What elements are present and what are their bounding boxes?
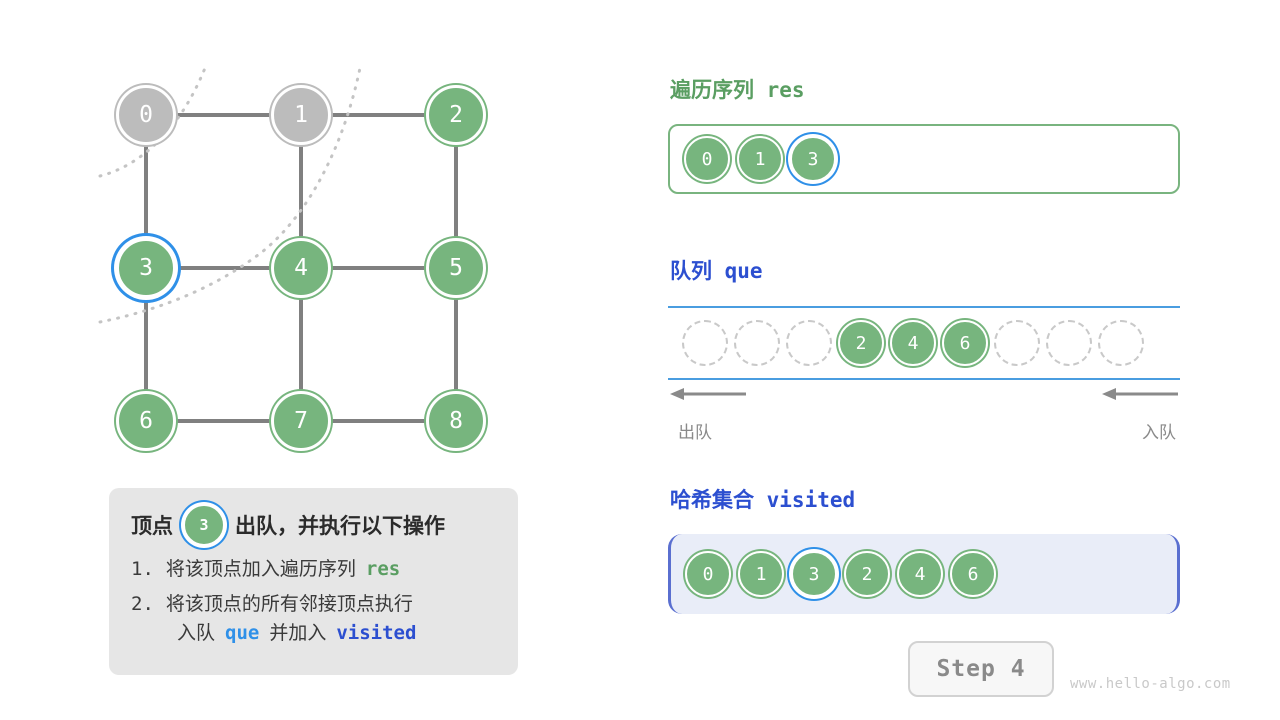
res-item-3: 3 — [790, 136, 836, 182]
caption-head-prefix: 顶点 — [131, 510, 173, 540]
graph-node-1[interactable]: 1 — [271, 85, 331, 145]
que-item-4: 4 — [890, 320, 936, 366]
caption-panel: 顶点 3 出队，并执行以下操作 1. 将该顶点加入遍历序列 res 2. 将该顶… — [109, 488, 518, 675]
step-badge: Step 4 — [908, 641, 1054, 697]
caption-sub-code-visited: visited — [336, 622, 416, 644]
graph-node-3[interactable]: 3 — [116, 238, 176, 298]
caption-step-1-text: 将该顶点加入遍历序列 — [166, 554, 356, 581]
graph-node-4[interactable]: 4 — [271, 238, 331, 298]
dequeue-arrow-icon — [668, 384, 748, 404]
que-section-title: 队列 que — [670, 255, 763, 285]
caption-sub-before: 入队 — [177, 618, 215, 645]
caption-step-1-code: res — [366, 558, 400, 580]
que-slots: 246 — [668, 306, 1180, 380]
caption-step-2: 2. 将该顶点的所有邻接顶点执行 — [131, 589, 498, 616]
enqueue-label: 入队 — [1142, 418, 1176, 443]
res-container: 013 — [668, 124, 1180, 194]
enqueue-arrow-icon — [1100, 384, 1180, 404]
caption-sub-code-que: que — [225, 622, 259, 644]
caption-step-2-number: 2. — [131, 593, 154, 615]
caption-vertex-chip: 3 — [183, 504, 225, 546]
caption-step-1-number: 1. — [131, 558, 154, 580]
watermark: www.hello-algo.com — [1070, 676, 1231, 692]
graph-node-2[interactable]: 2 — [426, 85, 486, 145]
caption-heading: 顶点 3 出队，并执行以下操作 — [131, 504, 498, 546]
visited-section-title: 哈希集合 visited — [670, 484, 855, 514]
caption-step-2-continued: 入队 que 并加入 visited — [131, 618, 498, 645]
que-slot-empty-1 — [734, 320, 780, 366]
graph-node-5[interactable]: 5 — [426, 238, 486, 298]
res-item-0: 0 — [684, 136, 730, 182]
visited-item-3: 3 — [791, 551, 837, 597]
visited-item-0: 0 — [685, 551, 731, 597]
graph-node-7[interactable]: 7 — [271, 391, 331, 451]
que-slot-empty-8 — [1098, 320, 1144, 366]
visited-item-1: 1 — [738, 551, 784, 597]
caption-step-1: 1. 将该顶点加入遍历序列 res — [131, 554, 498, 581]
res-item-1: 1 — [737, 136, 783, 182]
graph-node-8[interactable]: 8 — [426, 391, 486, 451]
visited-item-6: 6 — [950, 551, 996, 597]
caption-step-2-text: 将该顶点的所有邻接顶点执行 — [166, 589, 413, 616]
dequeue-label: 出队 — [678, 418, 712, 443]
que-item-6: 6 — [942, 320, 988, 366]
visited-item-4: 4 — [897, 551, 943, 597]
que-slot-empty-7 — [1046, 320, 1092, 366]
que-slot-empty-6 — [994, 320, 1040, 366]
caption-sub-middle: 并加入 — [269, 618, 326, 645]
visited-item-2: 2 — [844, 551, 890, 597]
graph-node-0[interactable]: 0 — [116, 85, 176, 145]
caption-head-suffix: 出队，并执行以下操作 — [235, 510, 445, 540]
que-item-2: 2 — [838, 320, 884, 366]
res-section-title: 遍历序列 res — [670, 74, 805, 104]
que-slot-empty-2 — [786, 320, 832, 366]
graph-node-6[interactable]: 6 — [116, 391, 176, 451]
canvas: 012345678 顶点 3 出队，并执行以下操作 1. 将该顶点加入遍历序列 … — [0, 0, 1280, 720]
que-container: 246 — [668, 306, 1180, 380]
que-slot-empty-0 — [682, 320, 728, 366]
visited-container: 013246 — [668, 534, 1180, 614]
